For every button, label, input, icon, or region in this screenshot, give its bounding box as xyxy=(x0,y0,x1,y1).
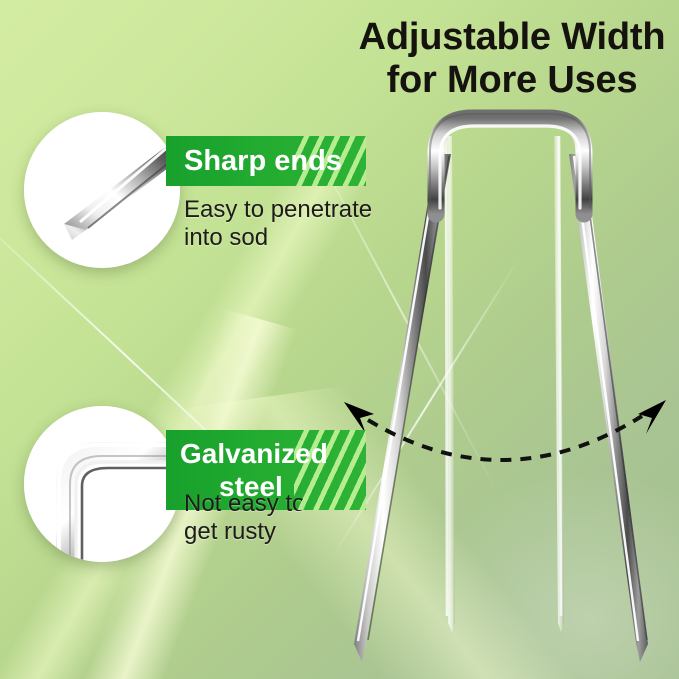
feature-badge-galvanized-steel: Galvanized steel xyxy=(166,430,366,510)
sharp-tip-closeup-icon xyxy=(24,112,180,268)
feature-badge-sharp-ends: Sharp ends xyxy=(166,136,366,186)
feature-badge-label-line2: steel xyxy=(180,470,328,503)
product-illustration-garden-staple xyxy=(318,96,679,679)
feature-description-sharp-ends: Easy to penetrate into sod xyxy=(184,196,414,252)
page-title: Adjustable Width for More Uses xyxy=(352,16,672,103)
page-title-line1: Adjustable Width xyxy=(359,16,666,58)
width-adjustment-arrow-annotation xyxy=(330,390,679,480)
infographic-canvas: Adjustable Width for More Uses xyxy=(0,0,679,679)
feature-badge-label: Sharp ends xyxy=(166,136,366,186)
feature-photo-galvanized-steel xyxy=(24,406,180,562)
bent-corner-closeup-icon xyxy=(24,406,180,562)
feature-description-line1: Easy to penetrate xyxy=(184,196,414,224)
feature-description-line2: into sod xyxy=(184,224,414,252)
feature-badge-label: Galvanized steel xyxy=(166,437,366,503)
ghost-legs-narrow-position xyxy=(446,136,564,632)
feature-photo-sharp-ends xyxy=(24,112,180,268)
feature-description-line2: get rusty xyxy=(184,518,414,546)
feature-badge-label-line1: Galvanized xyxy=(180,438,328,469)
